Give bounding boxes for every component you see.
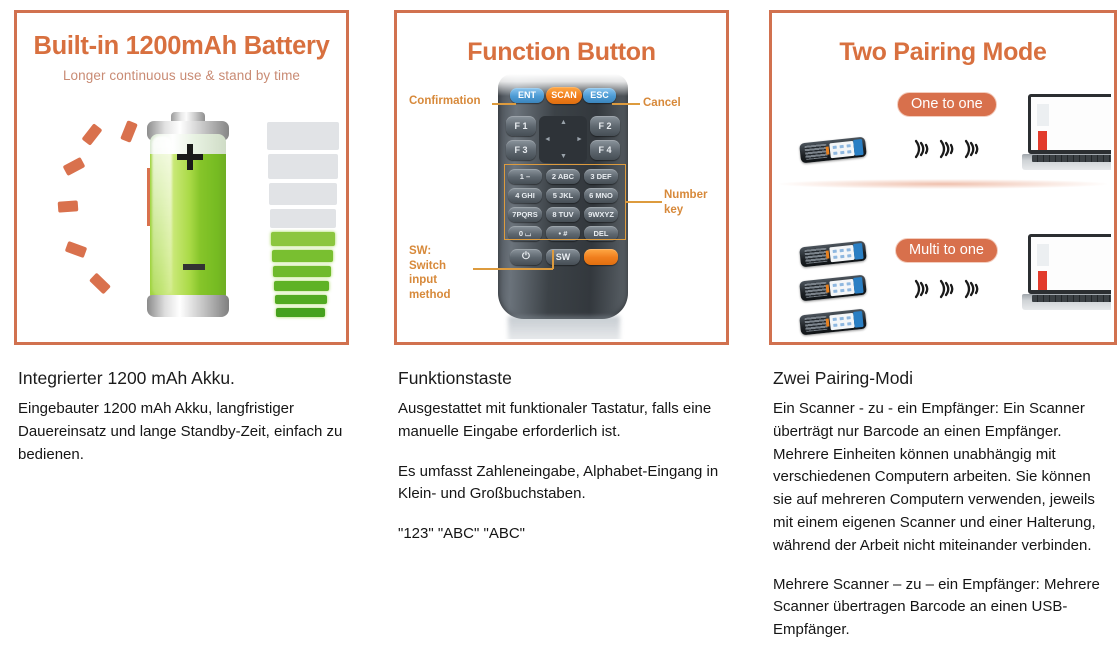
screen-cell — [833, 249, 837, 252]
sw-leader-horizontal — [473, 268, 553, 270]
arc-dash — [58, 200, 79, 212]
screen-cell — [833, 151, 837, 154]
screen-cell — [833, 145, 837, 148]
key-orange-action[interactable] — [584, 249, 618, 265]
dpad-left-icon[interactable]: ◄ — [544, 136, 551, 143]
scanner-blue-panel — [853, 277, 864, 294]
screen-cell — [847, 150, 851, 153]
badge-one-to-one: One to one — [897, 92, 997, 117]
key-f2[interactable]: F 2 — [590, 116, 620, 136]
pairing-caption-heading: Zwei Pairing-Modi — [773, 368, 1103, 389]
gauge-bar-full — [273, 266, 331, 277]
gauge-bar-full — [274, 281, 329, 291]
arc-dash — [82, 123, 103, 146]
screen-cell — [846, 144, 850, 147]
pairing-caption-paragraph-1: Ein Scanner - zu - ein Empfänger: Ein Sc… — [773, 398, 1103, 558]
arc-dash — [120, 120, 138, 143]
function-button-caption: Funktionstaste Ausgestattet mit funktion… — [398, 368, 732, 546]
screen-cell — [839, 144, 843, 147]
function-panel-inner: Function Button ENT SCAN ESC F 1 F 3 F 2… — [400, 16, 723, 339]
scanner-keypad — [804, 282, 827, 298]
function-caption-heading: Funktionstaste — [398, 368, 732, 389]
screen-cell — [833, 317, 837, 320]
scanner-screen — [829, 278, 854, 295]
pairing-panel-title: Two Pairing Mode — [775, 38, 1111, 67]
feature-column-function-button: Function Button ENT SCAN ESC F 1 F 3 F 2… — [380, 0, 752, 670]
screen-cell — [839, 316, 843, 319]
annotation-cancel: Cancel — [643, 96, 681, 111]
pairing-caption-paragraph-2: Mehrere Scanner – zu – ein Empfänger: Me… — [773, 574, 1103, 642]
arc-dash — [65, 241, 88, 258]
laptop-screen — [1028, 94, 1111, 154]
screen-cell — [847, 254, 851, 257]
annotation-confirmation: Confirmation — [409, 94, 499, 109]
screen-cell — [833, 323, 837, 326]
laptop-receiver — [1020, 234, 1111, 320]
dpad-navigation[interactable]: ▲ ▼ ◄ ► — [539, 116, 587, 163]
sw-leader-vertical — [552, 250, 554, 269]
pairing-image-panel: Two Pairing Mode One to one — [769, 10, 1117, 345]
key-f1[interactable]: F 1 — [506, 116, 536, 136]
gauge-bar-empty — [267, 122, 339, 150]
dpad-up-icon[interactable]: ▲ — [560, 119, 567, 126]
screen-cell — [833, 255, 837, 258]
scanner-screen — [829, 244, 854, 261]
screen-red-block — [1038, 131, 1047, 154]
screen-cell — [847, 322, 851, 325]
number-key-highlight-box — [504, 164, 626, 240]
scanner-keypad — [804, 316, 827, 332]
wifi-wave-icon — [962, 138, 980, 160]
arc-dash — [63, 157, 86, 176]
laptop-keyboard — [1032, 155, 1111, 162]
screen-cell — [840, 254, 844, 257]
wifi-wave-icon — [912, 138, 930, 160]
badge-multi-to-one: Multi to one — [895, 238, 998, 263]
screen-cell — [846, 316, 850, 319]
scanner-device — [799, 137, 867, 164]
screen-sidebar — [1037, 244, 1049, 266]
gauge-bar-empty — [270, 209, 336, 228]
scanner-blue-panel — [853, 243, 864, 260]
feature-column-battery: Built-in 1200mAh Battery Longer continuo… — [0, 0, 372, 670]
screen-cell — [840, 150, 844, 153]
screen-cell — [846, 282, 850, 285]
key-esc[interactable]: ESC — [583, 88, 616, 103]
wireless-signal-group — [912, 278, 980, 300]
wifi-wave-icon — [962, 278, 980, 300]
number-key-leader-line — [626, 201, 662, 203]
battery-caption-paragraph: Eingebauter 1200 mAh Akku, langfristiger… — [18, 398, 348, 466]
function-caption-paragraph-1: Ausgestattet mit funktionaler Tastatur, … — [398, 398, 732, 444]
key-f3[interactable]: F 3 — [506, 140, 536, 160]
annotation-number-key: Number key — [664, 188, 723, 217]
screen-cell — [846, 248, 850, 251]
product-feature-page: Built-in 1200mAh Battery Longer continuo… — [0, 0, 1118, 670]
scanner-screen — [829, 140, 854, 157]
dpad-right-icon[interactable]: ► — [576, 136, 583, 143]
laptop-base — [1022, 154, 1111, 170]
scanner-keypad — [804, 144, 827, 160]
screen-cell — [847, 288, 851, 291]
key-scan[interactable]: SCAN — [546, 87, 582, 104]
screen-red-block — [1038, 271, 1047, 294]
function-caption-paragraph-2: Es umfasst Zahleneingabe, Alphabet-Einga… — [398, 461, 732, 507]
battery-level-gauge — [263, 122, 343, 321]
pairing-caption: Zwei Pairing-Modi Ein Scanner - zu - ein… — [773, 368, 1103, 658]
laptop-receiver — [1020, 94, 1111, 180]
feature-column-pairing: Two Pairing Mode One to one — [755, 0, 1118, 670]
scanner-screen — [829, 312, 854, 329]
gauge-bar-full — [272, 250, 333, 262]
battery-image-panel: Built-in 1200mAh Battery Longer continuo… — [14, 10, 349, 345]
function-button-image-panel: Function Button ENT SCAN ESC F 1 F 3 F 2… — [394, 10, 729, 345]
screen-cell — [839, 248, 843, 251]
pairing-panel-inner: Two Pairing Mode One to one — [775, 16, 1111, 339]
key-power-icon[interactable]: ⏻ — [510, 249, 542, 265]
battery-caption: Integrierter 1200 mAh Akku. Eingebauter … — [18, 368, 348, 466]
cancel-leader-line — [612, 103, 640, 105]
scanner-device — [799, 275, 867, 302]
scanner-device — [799, 241, 867, 268]
screen-sidebar — [1037, 104, 1049, 126]
laptop-screen — [1028, 234, 1111, 294]
battery-base — [147, 295, 229, 317]
screen-cell — [839, 282, 843, 285]
gauge-bar-empty — [269, 183, 337, 205]
battery-caption-heading: Integrierter 1200 mAh Akku. — [18, 368, 348, 389]
function-caption-input-modes: "123" "ABC" "ABC" — [398, 523, 732, 546]
gauge-bar-empty — [268, 154, 338, 179]
scanner-device — [799, 309, 867, 336]
arc-dash — [89, 273, 111, 295]
battery-panel-inner: Built-in 1200mAh Battery Longer continuo… — [20, 16, 343, 339]
annotation-switch-input: SW: Switch input method — [409, 244, 479, 303]
laptop-keyboard — [1032, 295, 1111, 302]
wifi-wave-icon — [912, 278, 930, 300]
pairing-mode-divider — [779, 179, 1107, 189]
wifi-wave-icon — [937, 138, 955, 160]
wifi-wave-icon — [937, 278, 955, 300]
key-f4[interactable]: F 4 — [590, 140, 620, 160]
device-reflection — [508, 316, 620, 339]
scanner-blue-panel — [853, 139, 864, 156]
battery-illustration — [20, 16, 343, 339]
screen-cell — [840, 322, 844, 325]
battery-plus-terminal-icon — [177, 144, 203, 170]
screen-cell — [833, 283, 837, 286]
battery-gloss-highlight — [152, 136, 172, 296]
screen-cell — [840, 288, 844, 291]
laptop-base — [1022, 294, 1111, 310]
dpad-down-icon[interactable]: ▼ — [560, 153, 567, 160]
screen-cell — [833, 289, 837, 292]
battery-graphic — [145, 112, 231, 318]
gauge-bar-full — [271, 232, 335, 246]
key-ent[interactable]: ENT — [510, 88, 544, 103]
scanner-keypad — [804, 248, 827, 264]
battery-label-strip — [183, 264, 205, 270]
wireless-signal-group — [912, 138, 980, 160]
scanner-blue-panel — [853, 311, 864, 328]
gauge-bar-full — [275, 295, 327, 304]
gauge-bar-full — [276, 308, 325, 317]
function-panel-title: Function Button — [400, 38, 723, 67]
